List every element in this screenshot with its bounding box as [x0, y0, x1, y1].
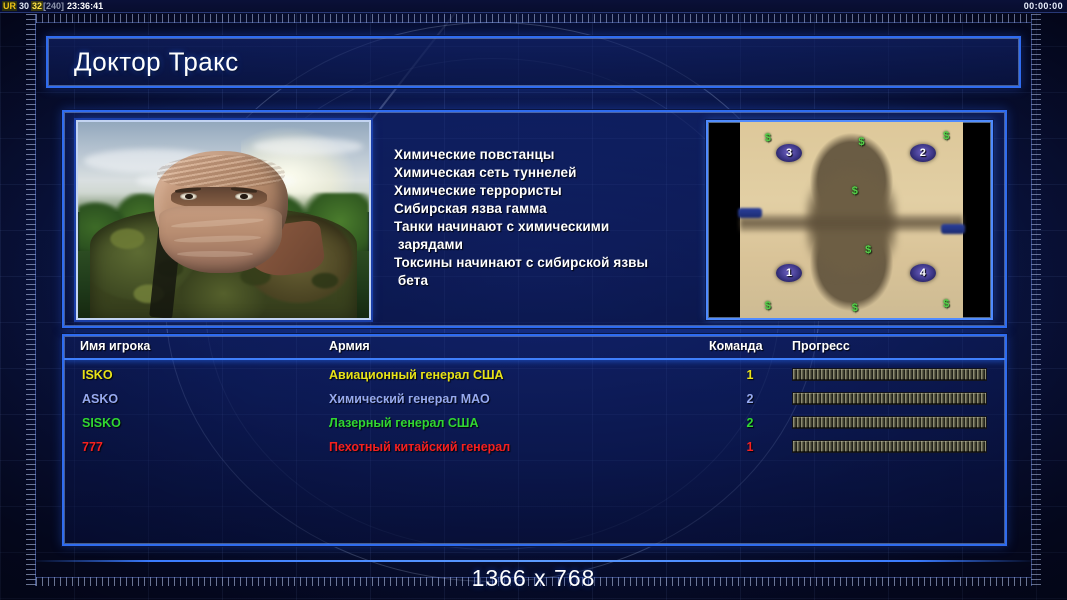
map-supply-marker: $	[941, 298, 952, 310]
map-start-position-3: 3	[776, 144, 802, 162]
game-lobby-screen: UR3032[240]23:36:41 00:00:00 Доктор Трак…	[0, 0, 1067, 600]
column-header-progress: Прогресс	[792, 339, 850, 353]
column-header-army: Армия	[329, 339, 370, 353]
player-name: ISKO	[82, 368, 113, 382]
portrait-artwork	[78, 122, 369, 318]
map-supply-marker: $	[856, 136, 867, 148]
status-ur-label: UR	[2, 1, 17, 11]
table-row[interactable]: ISKOАвиационный генерал США1	[64, 364, 1005, 388]
table-row[interactable]: 777Пехотный китайский генерал1	[64, 436, 1005, 460]
briefing-bullet: Токсины начинают с сибирской язвы бета	[394, 254, 724, 290]
map-supply-marker: $	[762, 132, 773, 144]
portrait-pupil	[240, 194, 248, 199]
player-name: 777	[82, 440, 103, 454]
player-list-panel: Имя игрока Армия Команда Прогресс ISKOАв…	[62, 334, 1007, 546]
column-header-player-name: Имя игрока	[80, 339, 150, 353]
portrait-scarf-wrap	[157, 155, 285, 186]
status-left-group: UR3032[240]23:36:41	[2, 0, 103, 13]
status-value-2: 32	[31, 1, 43, 11]
player-team: 1	[736, 440, 764, 454]
player-progress-bar	[792, 368, 987, 381]
player-army: Химический генерал МАО	[329, 392, 490, 406]
column-header-team: Команда	[709, 339, 763, 353]
map-supply-marker: $	[849, 302, 860, 314]
player-list-header: Имя игрока Армия Команда Прогресс	[64, 336, 1005, 360]
frame-ruler-right	[1031, 14, 1041, 586]
briefing-bullet: Химические повстанцы	[394, 146, 724, 164]
player-progress-bar	[792, 392, 987, 405]
briefing-bullet: Сибирская язва гамма	[394, 200, 724, 218]
player-team: 2	[736, 392, 764, 406]
map-supply-marker: $	[849, 185, 860, 197]
briefing-bullet: Танки начинают с химическими зарядами	[394, 218, 724, 254]
player-army: Лазерный генерал США	[329, 416, 478, 430]
status-clock: 23:36:41	[64, 1, 103, 11]
title-panel: Доктор Тракс	[46, 36, 1021, 88]
map-water-right	[941, 224, 966, 234]
map-supply-marker: $	[762, 300, 773, 312]
status-value-1: 30	[17, 1, 31, 11]
map-preview-art: 3214$$$$$$$$	[740, 122, 963, 318]
briefing-panel: Химические повстанцыХимическая сеть тунн…	[62, 110, 1007, 328]
general-portrait	[76, 120, 371, 320]
table-row[interactable]: SISKOЛазерный генерал США2	[64, 412, 1005, 436]
resolution-label: 1366 x 768	[0, 565, 1067, 592]
player-team: 1	[736, 368, 764, 382]
map-preview[interactable]: 3214$$$$$$$$	[706, 120, 993, 320]
player-team: 2	[736, 416, 764, 430]
briefing-bullet: Химические террористы	[394, 182, 724, 200]
page-title: Доктор Тракс	[74, 47, 239, 78]
status-bracket-value: [240]	[43, 1, 64, 11]
map-start-position-2: 2	[910, 144, 936, 162]
map-supply-marker: $	[863, 244, 874, 256]
status-right-clock: 00:00:00	[1024, 0, 1063, 13]
frame-ruler-top	[36, 14, 1031, 23]
map-water-left	[738, 208, 763, 218]
table-row[interactable]: ASKOХимический генерал МАО2	[64, 388, 1005, 412]
player-name: ASKO	[82, 392, 118, 406]
map-start-position-1: 1	[776, 264, 802, 282]
player-army: Пехотный китайский генерал	[329, 440, 510, 454]
frame-accent-line-bottom	[30, 560, 1037, 562]
frame-ruler-left	[26, 14, 36, 586]
portrait-pupil	[185, 194, 193, 199]
map-supply-marker: $	[941, 130, 952, 142]
player-progress-bar	[792, 416, 987, 429]
debug-status-bar: UR3032[240]23:36:41 00:00:00	[0, 0, 1067, 13]
map-start-position-4: 4	[910, 264, 936, 282]
player-name: SISKO	[82, 416, 121, 430]
briefing-bullet-list: Химические повстанцыХимическая сеть тунн…	[394, 146, 724, 290]
player-army: Авиационный генерал США	[329, 368, 504, 382]
player-progress-bar	[792, 440, 987, 453]
briefing-bullet: Химическая сеть туннелей	[394, 164, 724, 182]
map-horizontal-corridor	[740, 214, 963, 232]
